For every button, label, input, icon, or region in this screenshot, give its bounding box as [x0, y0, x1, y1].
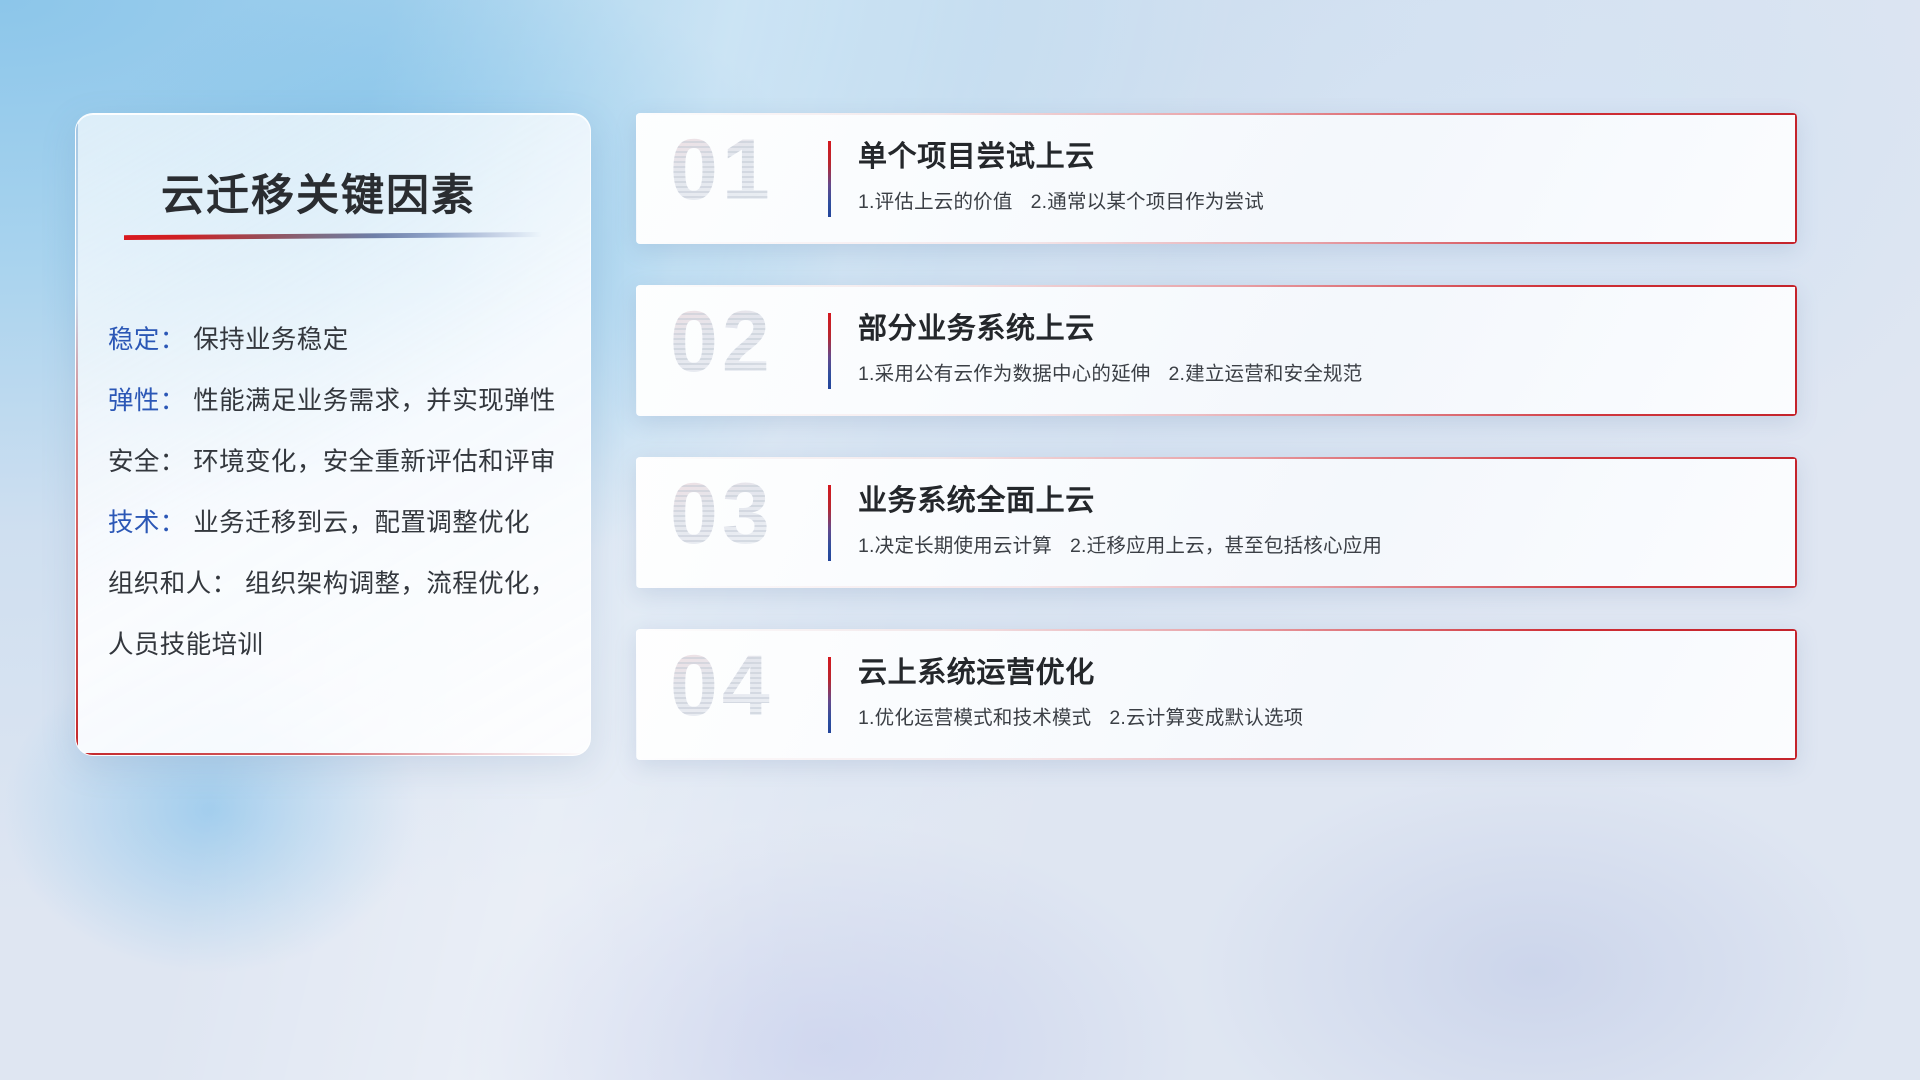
card-step-number: 04: [670, 637, 774, 736]
card-border-top: [636, 629, 1797, 631]
card-title: 云上系统运营优化: [858, 649, 1095, 691]
card-step-number: 03: [670, 465, 774, 564]
stage-card[interactable]: 01单个项目尝试上云1.评估上云的价值2.通常以某个项目作为尝试: [636, 113, 1797, 244]
card-border-left: [636, 285, 637, 416]
stage-card[interactable]: 04云上系统运营优化1.优化运营模式和技术模式2.云计算变成默认选项: [636, 629, 1797, 760]
card-border-top: [636, 113, 1797, 115]
factor-row: 稳定： 保持业务稳定: [108, 310, 572, 371]
slide-stage: 云迁移关键因素 稳定： 保持业务稳定弹性： 性能满足业务需求，并实现弹性安全： …: [0, 0, 1920, 1080]
card-point-2: 2.云计算变成默认选项: [1109, 707, 1303, 729]
factor-row: 人员技能培训: [108, 615, 572, 676]
card-border-right: [1795, 629, 1797, 760]
card-title: 部分业务系统上云: [858, 305, 1095, 347]
card-accent-bar: [828, 485, 831, 561]
card-point-2: 2.迁移应用上云，甚至包括核心应用: [1070, 535, 1382, 557]
card-border-left: [636, 629, 637, 760]
card-border-right: [1795, 457, 1797, 588]
card-border-bottom: [636, 414, 1797, 416]
card-description: 1.采用公有云作为数据中心的延伸2.建立运营和安全规范: [858, 357, 1362, 386]
card-border-left: [636, 457, 637, 588]
card-accent-bar: [828, 657, 831, 733]
card-point-1: 1.评估上云的价值: [858, 191, 1013, 213]
card-border-bottom: [636, 242, 1797, 244]
factor-row: 组织和人： 组织架构调整，流程优化，: [108, 554, 572, 615]
key-factors-panel: 云迁移关键因素 稳定： 保持业务稳定弹性： 性能满足业务需求，并实现弹性安全： …: [75, 113, 591, 756]
card-point-2: 2.建立运营和安全规范: [1168, 363, 1362, 385]
factor-row: 安全： 环境变化，安全重新评估和评审: [108, 432, 572, 493]
factor-row: 技术： 业务迁移到云，配置调整优化: [108, 493, 572, 554]
factor-text: 环境变化，安全重新评估和评审: [186, 448, 556, 476]
card-accent-bar: [828, 141, 831, 217]
factor-key: 技术：: [108, 509, 186, 537]
factor-text: 保持业务稳定: [186, 326, 349, 354]
card-title: 单个项目尝试上云: [858, 133, 1095, 175]
card-point-1: 1.采用公有云作为数据中心的延伸: [858, 363, 1150, 385]
card-border-bottom: [636, 586, 1797, 588]
factor-list: 稳定： 保持业务稳定弹性： 性能满足业务需求，并实现弹性安全： 环境变化，安全重…: [108, 310, 572, 676]
card-border-left: [636, 113, 637, 244]
card-step-number: 01: [670, 121, 774, 220]
factor-text: 人员技能培训: [108, 631, 263, 659]
card-border-right: [1795, 285, 1797, 416]
factor-key: 稳定：: [108, 326, 186, 354]
page-title: 云迁移关键因素: [161, 161, 476, 223]
card-title: 业务系统全面上云: [858, 477, 1095, 519]
card-step-number: 02: [670, 293, 774, 392]
card-description: 1.评估上云的价值2.通常以某个项目作为尝试: [858, 185, 1264, 214]
title-underline-rule: [124, 232, 542, 240]
card-border-bottom: [636, 758, 1797, 760]
card-border-top: [636, 285, 1797, 287]
factor-key: 弹性：: [108, 387, 186, 415]
factor-row: 弹性： 性能满足业务需求，并实现弹性: [108, 371, 572, 432]
factor-key: 安全：: [108, 448, 186, 476]
factor-key: 组织和人：: [108, 570, 238, 598]
card-border-right: [1795, 113, 1797, 244]
card-description: 1.决定长期使用云计算2.迁移应用上云，甚至包括核心应用: [858, 529, 1382, 558]
factor-text: 性能满足业务需求，并实现弹性: [186, 387, 556, 415]
card-point-2: 2.通常以某个项目作为尝试: [1031, 191, 1264, 213]
factor-text: 业务迁移到云，配置调整优化: [186, 509, 530, 537]
card-point-1: 1.优化运营模式和技术模式: [858, 707, 1091, 729]
card-point-1: 1.决定长期使用云计算: [858, 535, 1052, 557]
card-description: 1.优化运营模式和技术模式2.云计算变成默认选项: [858, 701, 1303, 730]
card-border-top: [636, 457, 1797, 459]
card-accent-bar: [828, 313, 831, 389]
factor-text: 组织架构调整，流程优化，: [238, 570, 556, 598]
stage-card[interactable]: 02部分业务系统上云1.采用公有云作为数据中心的延伸2.建立运营和安全规范: [636, 285, 1797, 416]
stage-card[interactable]: 03业务系统全面上云1.决定长期使用云计算2.迁移应用上云，甚至包括核心应用: [636, 457, 1797, 588]
